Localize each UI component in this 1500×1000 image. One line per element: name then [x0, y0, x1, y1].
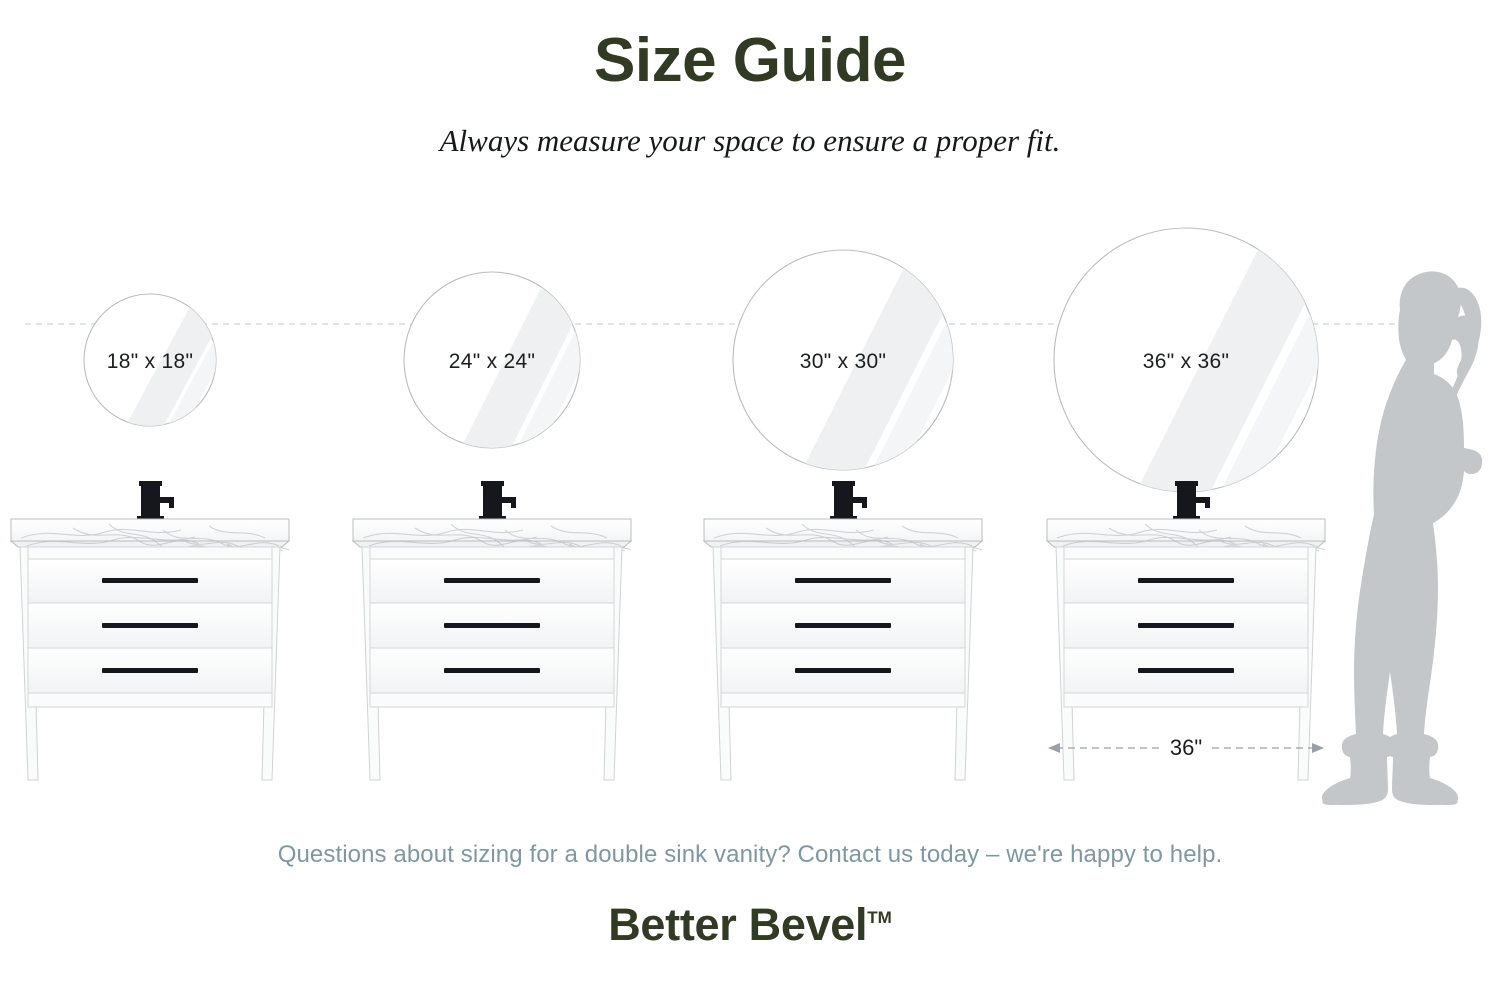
vanity-3[interactable] — [704, 481, 982, 780]
size-guide-infographic: Size Guide Always measure your space to … — [0, 0, 1500, 1000]
vanity-1[interactable] — [11, 481, 289, 780]
mirror-label-30: 30" x 30" — [800, 350, 887, 374]
mirror-label-24: 24" x 24" — [449, 350, 536, 374]
mirror-label-18: 18" x 18" — [107, 350, 194, 374]
faucet-3 — [830, 481, 867, 522]
footer-contact-note: Questions about sizing for a double sink… — [0, 841, 1500, 869]
vanity-2[interactable] — [353, 481, 631, 780]
trademark-symbol: TM — [867, 908, 892, 927]
brand-logo: Better BevelTM — [0, 900, 1500, 950]
faucet-2 — [479, 481, 516, 522]
female-silhouette — [1322, 271, 1482, 805]
mirror-label-36: 36" x 36" — [1143, 350, 1230, 374]
width-dimension-label: 36" — [1161, 733, 1211, 763]
brand-name: Better Bevel — [608, 899, 867, 950]
faucet-1 — [137, 481, 174, 522]
